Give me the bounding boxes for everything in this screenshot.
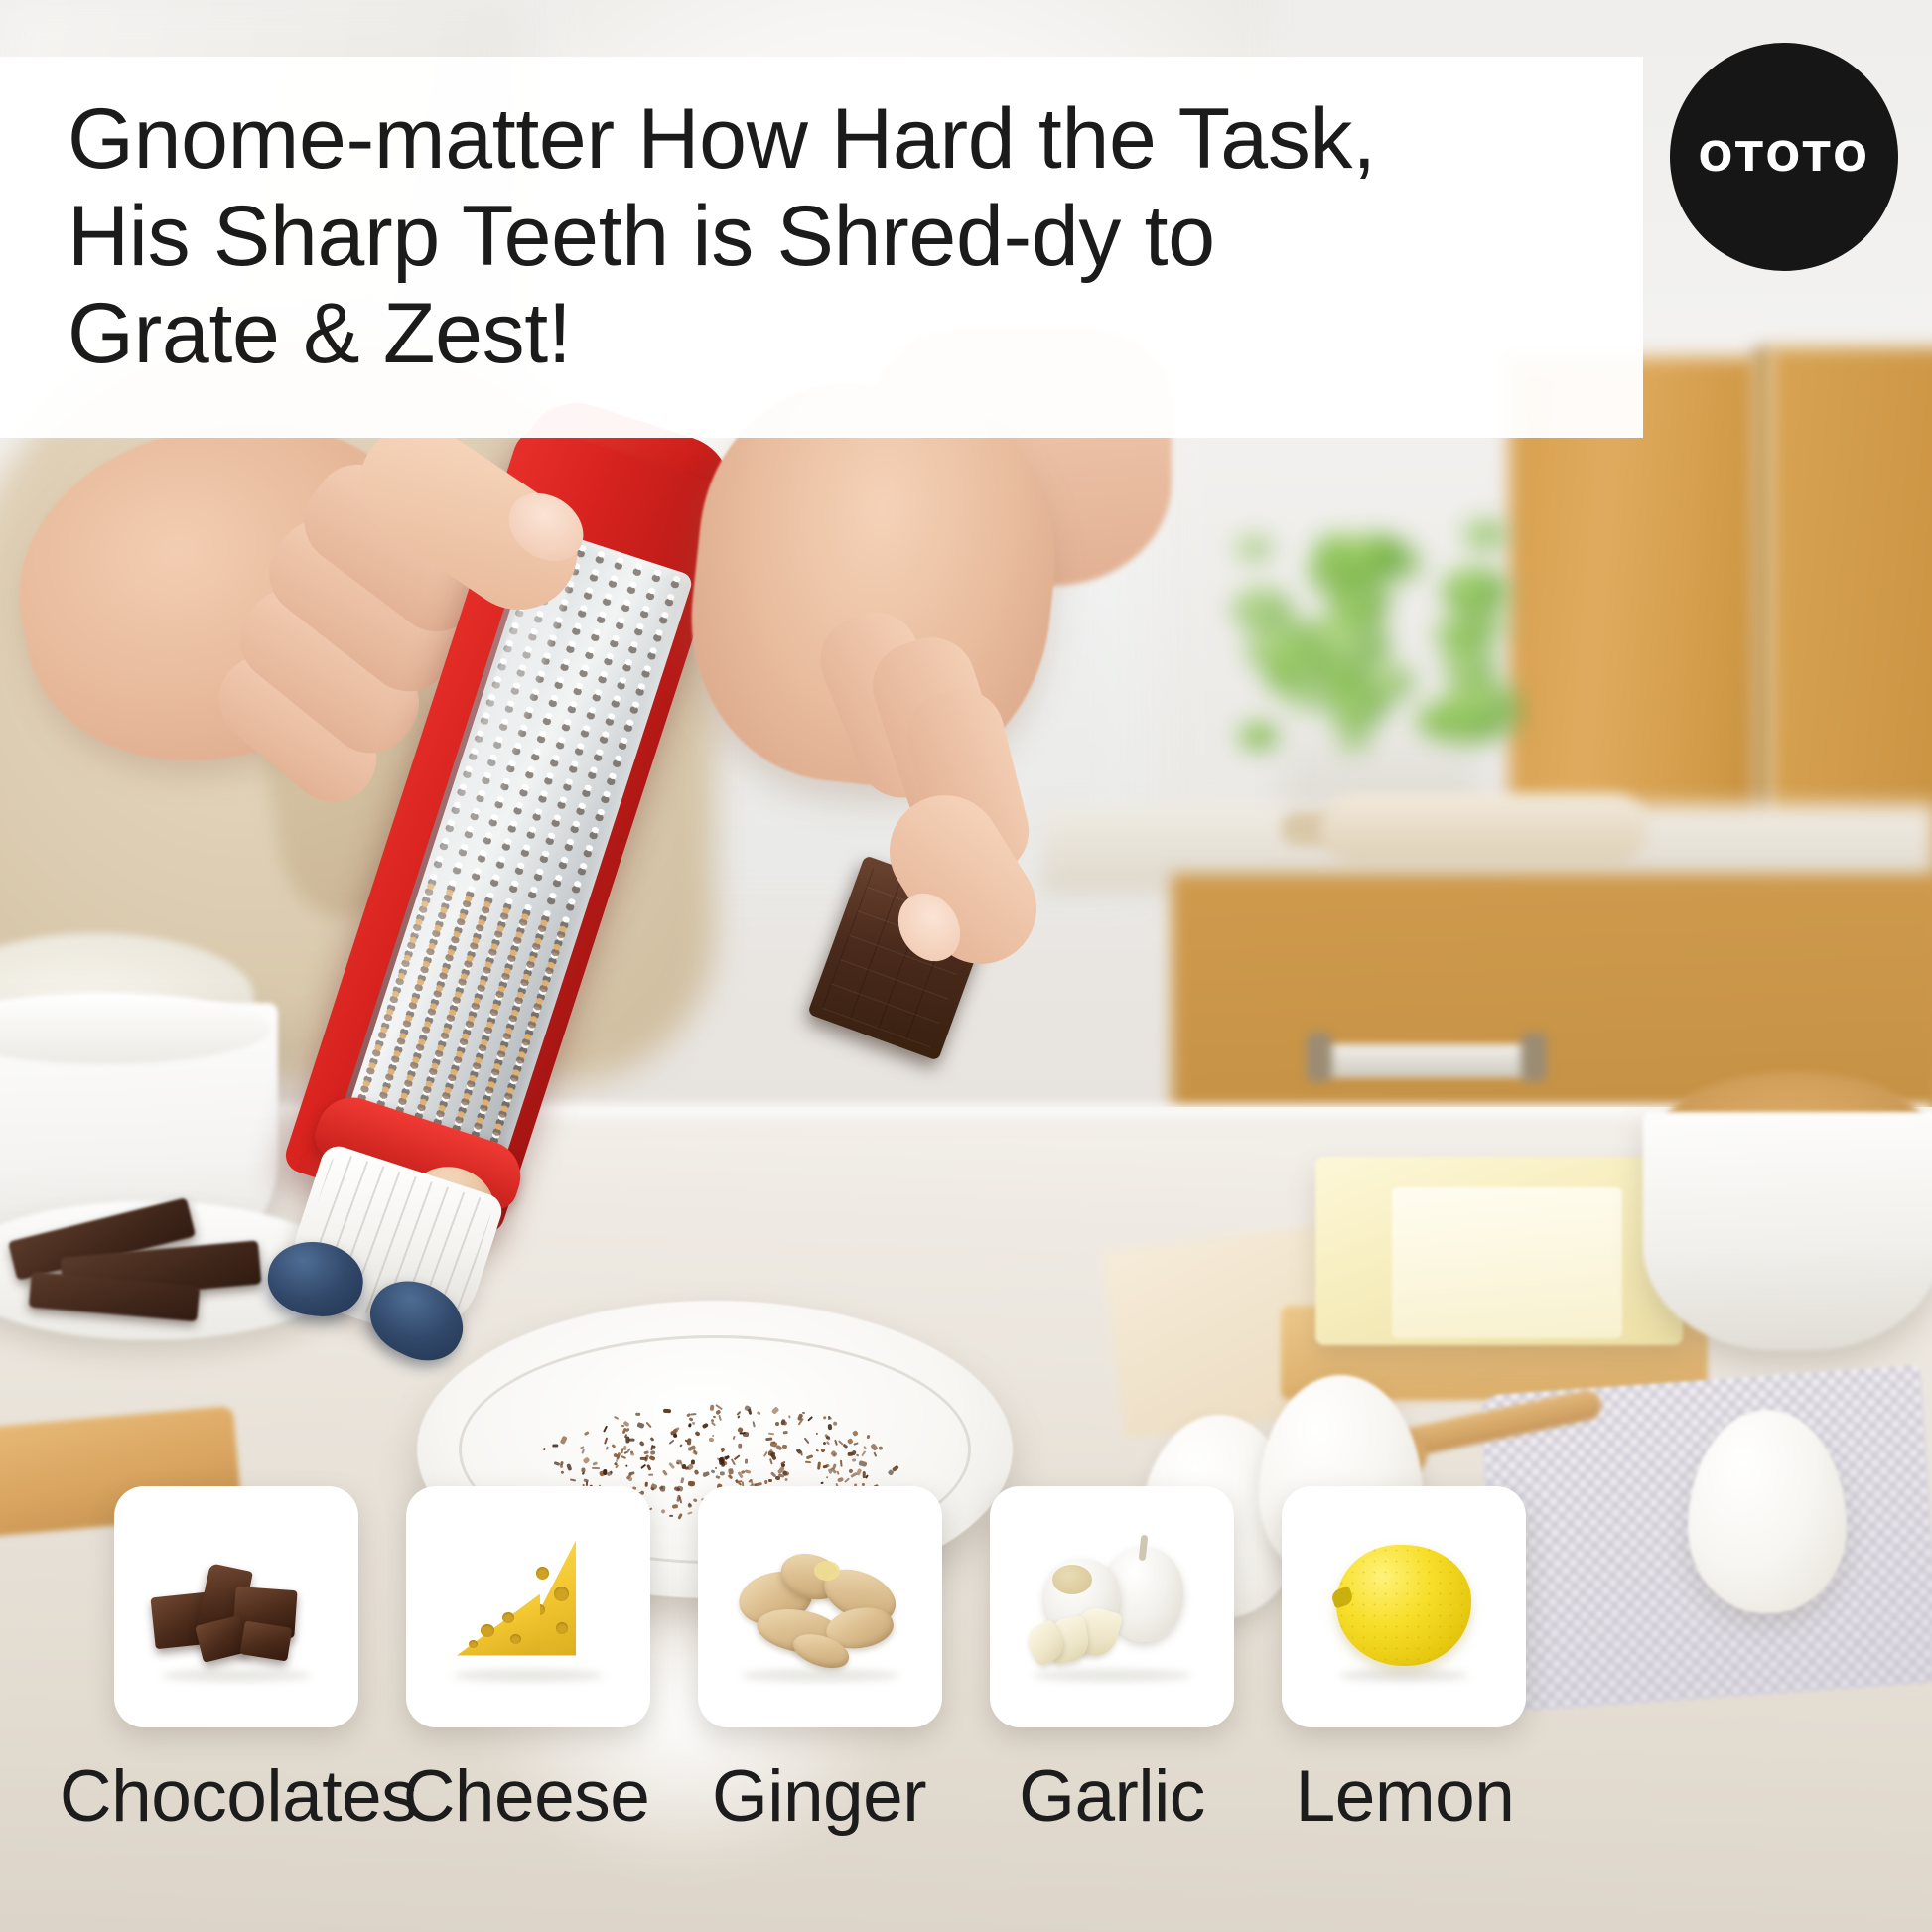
butter-cut-face bbox=[1392, 1187, 1622, 1338]
ingredient-card-lemon bbox=[1282, 1486, 1526, 1727]
lemon-icon bbox=[1307, 1533, 1501, 1682]
ingredient-labels: Chocolates Cheese Ginger Garlic Lemon bbox=[0, 1755, 1932, 1874]
ingredient-card-garlic bbox=[990, 1486, 1234, 1727]
label-lemon: Lemon bbox=[1241, 1755, 1569, 1838]
product-marketing-image: Gnome-matter How Hard the Task, His Shar… bbox=[0, 0, 1932, 1932]
label-cheese: Cheese bbox=[367, 1755, 685, 1838]
ginger-root-icon bbox=[723, 1533, 917, 1682]
ingredient-cards bbox=[0, 1486, 1932, 1734]
ingredient-card-cheese bbox=[406, 1486, 650, 1727]
ingredient-card-ginger bbox=[698, 1486, 942, 1727]
headline-line-2: His Sharp Teeth is Shred-dy to bbox=[68, 188, 1589, 285]
page-title: Gnome-matter How Hard the Task, His Shar… bbox=[68, 90, 1589, 382]
label-garlic: Garlic bbox=[953, 1755, 1271, 1838]
chocolate-chunks-icon bbox=[139, 1533, 334, 1682]
cheese-wedge-icon bbox=[431, 1533, 625, 1682]
label-ginger: Ginger bbox=[640, 1755, 998, 1838]
logo-text: OTOTO bbox=[1699, 133, 1870, 181]
garlic-bulb-icon bbox=[1015, 1533, 1209, 1682]
headline-line-1: Gnome-matter How Hard the Task, bbox=[68, 90, 1589, 188]
cabinet-handle bbox=[1312, 1044, 1541, 1078]
ototo-logo: OTOTO bbox=[1670, 43, 1898, 271]
headline-banner: Gnome-matter How Hard the Task, His Shar… bbox=[0, 57, 1643, 438]
ingredient-card-chocolates bbox=[114, 1486, 358, 1727]
brown-sugar-bowl bbox=[1643, 1112, 1932, 1350]
green-plant bbox=[1226, 516, 1524, 784]
headline-line-3: Grate & Zest! bbox=[68, 285, 1589, 382]
rolling-pin bbox=[1320, 794, 1648, 864]
